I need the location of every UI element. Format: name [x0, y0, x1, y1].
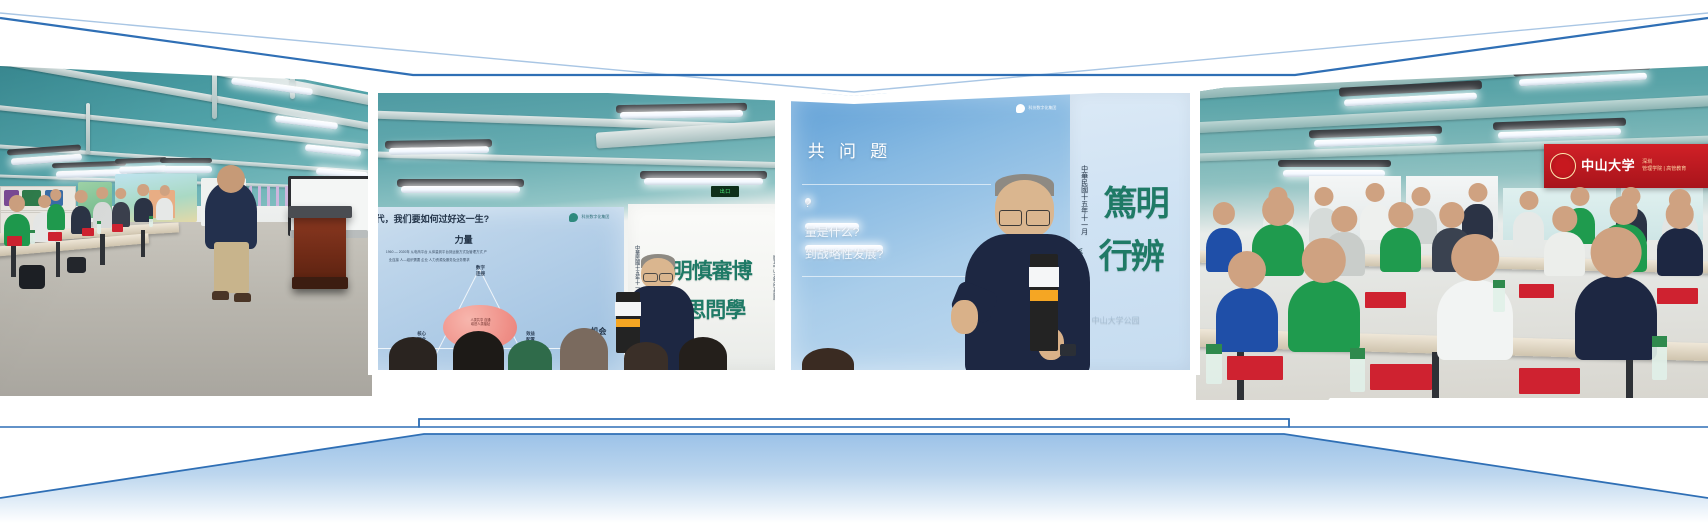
attendee-head [137, 184, 149, 196]
attendee-head [1213, 202, 1235, 224]
diagram-core-label: 人类共享 自通 增进人类福祉 [443, 318, 517, 327]
attendee [1575, 276, 1657, 360]
bottle-cap [1350, 348, 1365, 359]
attendee [1657, 228, 1703, 276]
front-row-head [560, 328, 608, 370]
slide-bullet-0: ? [805, 198, 811, 205]
attendee-head [1570, 187, 1589, 206]
instructor-shoe [234, 293, 251, 302]
bottle-cap [97, 221, 101, 224]
attendee [1544, 232, 1585, 276]
desk-leg [1626, 356, 1633, 400]
microphone-band [616, 319, 640, 326]
calligraphy-watermark: 中山大学公园 [1092, 315, 1140, 326]
event-photo-banner: 出口 科技数字化集团 化的时代，我们要如何过好这一生? 力量 1960 — 20… [0, 0, 1708, 523]
bottle-cap [149, 216, 153, 219]
attendee-head [1314, 187, 1333, 206]
ceiling-light [160, 158, 212, 163]
ceiling-light [1498, 128, 1621, 139]
photo-audience-rows[interactable]: 中山大学 深圳 管理学院 | 高管教育 [1196, 0, 1708, 400]
attendee-head [1412, 187, 1431, 206]
lectern-base [292, 277, 348, 289]
calligraphy-right-note: 國立中山大學成立訓詞 [771, 255, 775, 321]
desk-nameplate [82, 228, 95, 237]
exit-sign-label: 出口 [720, 188, 731, 195]
lecturer-glasses [659, 273, 673, 282]
slide-logo-mark [1016, 104, 1025, 113]
lecturer-head [995, 180, 1055, 238]
ceiling-light [1278, 160, 1391, 167]
university-banner-subtitle-2: 管理学院 | 高管教育 [1642, 167, 1686, 173]
attendee [1380, 228, 1421, 272]
desk-leg [1432, 352, 1439, 400]
photo-classroom-wide[interactable] [0, 0, 372, 396]
desk-nameplate [7, 236, 22, 246]
attendee [1513, 212, 1544, 248]
front-row-head [389, 337, 437, 370]
slide-bullet-1: 量是什么? [805, 223, 860, 230]
attendee-head [1262, 194, 1294, 226]
instructor-trousers [214, 242, 249, 293]
desk-nameplate [112, 224, 123, 232]
exit-sign: 出口 [711, 186, 739, 197]
bottle-cap [30, 230, 35, 234]
instructor [205, 182, 257, 249]
attendee-head [115, 188, 127, 200]
university-banner-title: 中山大学 [1581, 159, 1635, 174]
photo-slide-and-calligraphy[interactable]: 出口 科技数字化集团 化的时代，我们要如何过好这一生? 力量 1960 — 20… [377, 93, 775, 370]
instructor-head [217, 165, 245, 193]
water-bottle [1652, 336, 1667, 380]
slide-logo-mark [569, 213, 578, 222]
attendee [112, 202, 131, 227]
slide-heading: 化的时代，我们要如何过好这一生? [377, 212, 489, 225]
desk-leg [100, 234, 104, 266]
attendee-head [1666, 200, 1695, 229]
water-bottle [1350, 348, 1365, 392]
attendee-head [1609, 196, 1638, 225]
slide-logo: 科技数字化集团 [1016, 104, 1056, 113]
bottle-cap [1206, 344, 1221, 354]
attendee [1288, 280, 1360, 352]
desk-nameplate [1519, 284, 1555, 298]
desk-nameplate [48, 232, 61, 242]
slide-heading: 共 问 题 [808, 137, 892, 162]
university-banner-subtitle-1: 深圳 [1642, 160, 1686, 166]
desk-nameplate [1519, 368, 1580, 394]
desk-leg [56, 242, 60, 278]
bottle-cap [1652, 336, 1667, 347]
bottle-cap [1493, 280, 1505, 288]
university-banner: 中山大学 深圳 管理学院 | 高管教育 [1544, 144, 1708, 188]
microphone-band [1030, 290, 1058, 301]
attendee-head [1519, 191, 1538, 210]
desk-leg [141, 230, 145, 258]
lectern-top [288, 206, 351, 218]
attendee [156, 198, 173, 220]
water-bottle [1206, 344, 1221, 384]
photo-classroom-wide-scene [0, 0, 372, 396]
frame-band-bottom [0, 398, 1708, 523]
backpack [19, 265, 45, 289]
slide-logo: 科技数字化集团 [569, 213, 609, 222]
ceiling-light [401, 186, 520, 193]
ceiling-light [644, 178, 763, 185]
attendee-head [1366, 183, 1385, 202]
microphone-flag [1029, 267, 1059, 286]
desk-nameplate [1365, 292, 1406, 308]
ceiling-light [620, 110, 743, 119]
slide-subtext-2: 业连接 人—组织需要 企业 人力资源及服务及业务需求 [389, 257, 470, 262]
attendee-head [50, 189, 62, 201]
front-row-head [624, 342, 668, 370]
water-bottle [30, 230, 35, 244]
lecturer-hand [951, 300, 978, 334]
attendee-head [1590, 227, 1641, 278]
attendee-head [1228, 251, 1266, 289]
attendee-head [1468, 183, 1487, 202]
backpack [67, 257, 86, 273]
lecturer-watch [1060, 344, 1076, 356]
microphone-flag [615, 302, 641, 315]
photo-lecturer-scene: 科技数字化集团 共 问 题 ? 量是什么? 到战略性发展? 篤明 行辨 中華民國… [790, 93, 1190, 370]
attendee-head [1451, 234, 1499, 282]
water-bottle [149, 216, 153, 227]
lecturer-glasses [999, 210, 1023, 226]
desk-nameplate [1370, 364, 1431, 390]
calligraphy-line-2: 行辨 [1099, 229, 1163, 278]
instructor-shoe [212, 291, 229, 300]
university-seal-icon [1550, 153, 1576, 179]
frame-line-bottom-outer [0, 419, 1708, 427]
slide-logo-text: 科技数字化集团 [581, 215, 609, 220]
water-bottle [97, 221, 101, 234]
slide-subtext-1: 1960 — 2020年 从电商平台 从体量到平台到运营方式及管理方式 产 [386, 249, 487, 254]
front-row-head [679, 337, 727, 370]
microphone [1030, 254, 1058, 351]
slide-bullet-2: 到战略性发展? [805, 245, 884, 252]
frame-line-bottom-inner [0, 434, 1708, 498]
calligraphy-line-1: 篤明 [1104, 176, 1168, 225]
lecturer-glasses [1026, 210, 1050, 226]
diagram-top-node: 数字 连接 [450, 265, 511, 277]
slide-section-label: 力量 [455, 233, 473, 246]
attendee [47, 204, 66, 230]
desk-nameplate [1227, 356, 1283, 380]
ceiling-pillar [212, 55, 217, 118]
frame-outline-bottom [419, 419, 1289, 427]
ceiling-pillar [86, 103, 90, 154]
lecturer-glasses [643, 273, 657, 282]
desk-nameplate [1657, 288, 1698, 304]
attendee-head [75, 190, 88, 203]
ceiling-light [164, 166, 212, 173]
frame-fill-bottom [0, 434, 1708, 523]
slide-logo-text: 科技数字化集团 [1028, 106, 1056, 111]
photo-lecturer-closeup[interactable]: 科技数字化集团 共 问 题 ? 量是什么? 到战略性发展? 篤明 行辨 中華民國… [790, 93, 1190, 370]
water-bottle [1493, 280, 1505, 312]
photo-gap-seam [775, 90, 791, 375]
photo-slide-scene: 出口 科技数字化集团 化的时代，我们要如何过好这一生? 力量 1960 — 20… [377, 93, 775, 370]
photo-audience-scene: 中山大学 深圳 管理学院 | 高管教育 [1196, 0, 1708, 400]
front-row-head [453, 331, 505, 370]
attendee [1216, 288, 1277, 352]
attendee-head [1302, 238, 1346, 282]
attendee-head [97, 187, 109, 199]
